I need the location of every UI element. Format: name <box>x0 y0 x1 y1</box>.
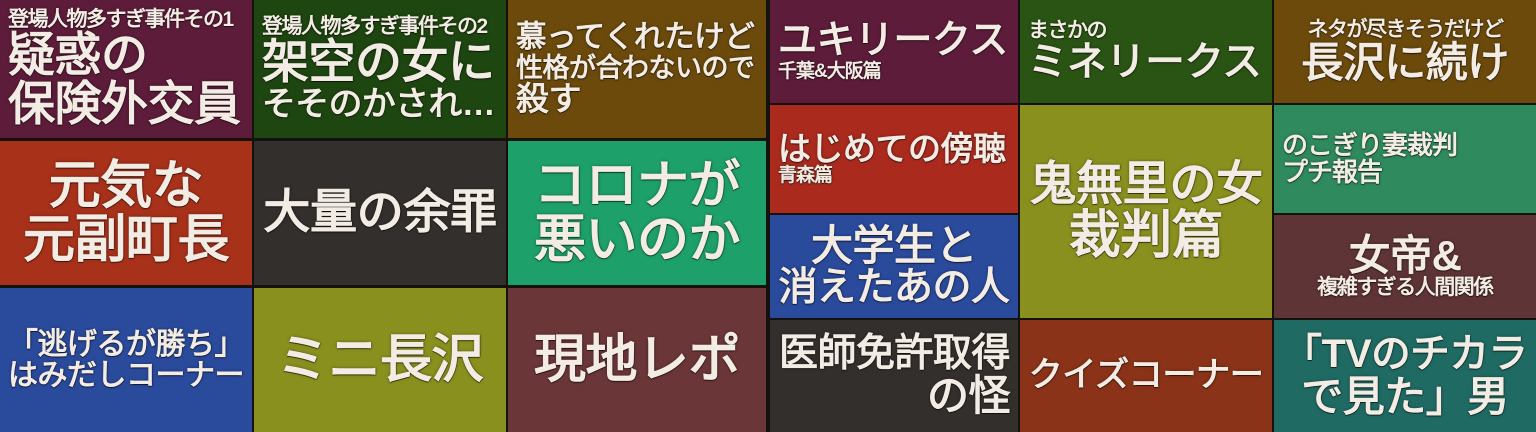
tile-text-line: ミネリークス <box>1028 42 1261 83</box>
tile-text-line: 慕ってくれたけど <box>516 22 754 54</box>
tile-text-line: 疑惑の <box>8 31 148 80</box>
thumbnail-tile[interactable]: 登場人物多すぎ事件その2架空の女にそそのかされ… <box>254 0 506 138</box>
tile-text-line: 医師免許取得 <box>779 334 1010 375</box>
tile-text-line: 消えたあの人 <box>778 268 1009 309</box>
tile-text-line: 「逃げるが勝ち」 <box>8 329 244 360</box>
thumbnail-tile[interactable]: はじめての傍聴青森篇 <box>770 105 1018 213</box>
tile-text-line: コロナが <box>534 159 740 213</box>
thumbnail-tile[interactable]: ネタが尽きそうだけど長沢に続け <box>1274 0 1536 103</box>
thumbnail-tile[interactable]: ユキリークス千葉&大阪篇 <box>770 0 1018 103</box>
tile-text-line: 長沢に続け <box>1301 41 1509 85</box>
tile-text-line: はじめての傍聴 <box>778 132 1006 166</box>
tile-text-line: はみだしコーナー <box>8 360 244 391</box>
tile-text-line: 悪いのか <box>534 213 740 267</box>
right-thumbnail-grid: ユキリークス千葉&大阪篇まさかのミネリークスネタが尽きそうだけど長沢に続けはじめ… <box>768 0 1536 432</box>
thumbnail-tile[interactable]: まさかのミネリークス <box>1020 0 1272 103</box>
tile-text-line: プチ報告 <box>1282 159 1382 186</box>
tile-text-line: 性格が合わないので <box>516 54 755 82</box>
thumbnail-tile[interactable]: コロナが悪いのか <box>508 141 766 285</box>
tile-text-line: 女帝& <box>1349 234 1462 278</box>
tile-text-line: のこぎり妻裁判 <box>1282 132 1457 159</box>
tile-text-line: 鬼無里の女 <box>1029 160 1262 209</box>
tile-text-line: 現地レポ <box>534 333 740 387</box>
thumbnail-tile[interactable]: 女帝&複雑すぎる人間関係 <box>1274 215 1536 318</box>
tile-text-line: クイズコーナー <box>1029 358 1264 394</box>
thumbnail-tile[interactable]: クイズコーナー <box>1020 320 1272 432</box>
tile-text-line: 殺す <box>516 82 581 116</box>
tile-text-line: ミニ長沢 <box>277 333 483 387</box>
thumbnail-tile[interactable]: 医師免許取得の怪 <box>770 320 1018 432</box>
tile-text-line: 大学生と <box>811 224 977 268</box>
tile-text-line: 保険外交員 <box>8 80 241 129</box>
tile-text-line: で見た」男 <box>1301 375 1509 419</box>
tile-text-line: 千葉&大阪篇 <box>778 62 881 82</box>
thumbnail-tile[interactable]: ミニ長沢 <box>254 288 506 432</box>
tile-text-line: の怪 <box>927 374 1010 418</box>
thumbnail-tile[interactable]: 登場人物多すぎ事件その1疑惑の保険外交員 <box>0 0 252 138</box>
tile-text-line: ユキリークス <box>778 21 1008 62</box>
thumbnail-grid-root: 登場人物多すぎ事件その1疑惑の保険外交員登場人物多すぎ事件その2架空の女にそその… <box>0 0 1536 432</box>
tile-text-line: 「TVのチカラ <box>1283 334 1528 375</box>
thumbnail-tile[interactable]: 大学生と消えたあの人 <box>770 215 1018 318</box>
tile-text-line: 複雑すぎる人間関係 <box>1317 277 1493 299</box>
thumbnail-tile[interactable]: 大量の余罪 <box>254 141 506 285</box>
left-thumbnail-grid: 登場人物多すぎ事件その1疑惑の保険外交員登場人物多すぎ事件その2架空の女にそその… <box>0 0 768 432</box>
tile-text-line: 大量の余罪 <box>263 188 496 237</box>
thumbnail-tile[interactable]: 慕ってくれたけど性格が合わないので殺す <box>508 0 766 138</box>
thumbnail-tile[interactable]: 「逃げるが勝ち」はみだしコーナー <box>0 288 252 432</box>
thumbnail-tile[interactable]: のこぎり妻裁判プチ報告 <box>1274 105 1536 213</box>
thumbnail-tile[interactable]: 元気な元副町長 <box>0 141 252 285</box>
tile-text-line: そそのかされ… <box>262 87 495 122</box>
thumbnail-tile[interactable]: 鬼無里の女裁判篇 <box>1020 105 1272 318</box>
tile-text-line: 元副町長 <box>23 213 229 267</box>
tile-text-line: 裁判篇 <box>1069 209 1224 263</box>
tile-text-line: 青森篇 <box>778 166 832 186</box>
tile-text-line: 架空の女に <box>262 38 495 87</box>
thumbnail-tile[interactable]: 現地レポ <box>508 288 766 432</box>
thumbnail-tile[interactable]: 「TVのチカラで見た」男 <box>1274 320 1536 432</box>
tile-text-line: まさかの <box>1028 20 1106 42</box>
tile-text-line: 元気な <box>49 159 204 213</box>
tile-text-line: ネタが尽きそうだけど <box>1308 19 1503 41</box>
